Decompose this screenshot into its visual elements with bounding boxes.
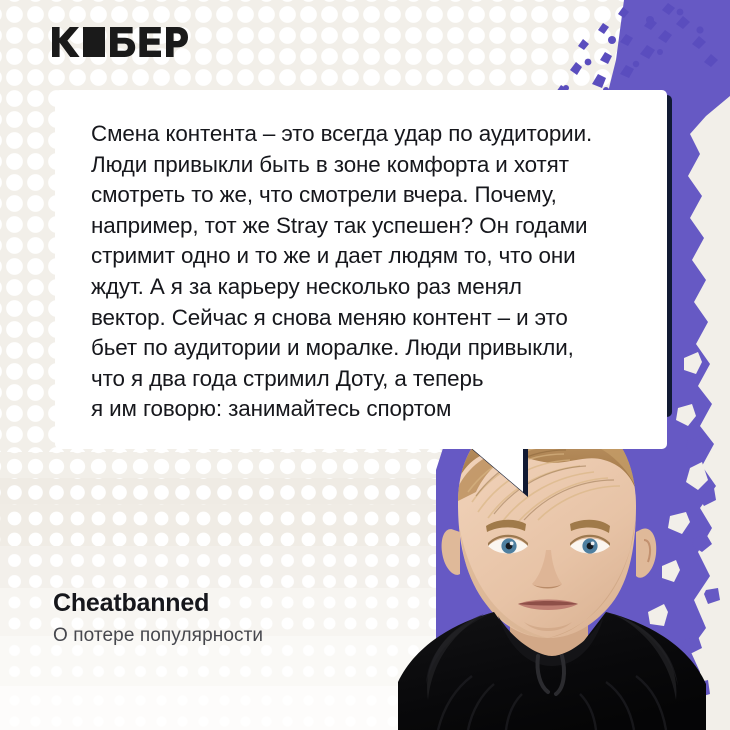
speaker-name: Cheatbanned <box>53 588 263 619</box>
quote-text: Смена контента – это всегда удар по ауди… <box>91 119 631 425</box>
quote-bubble: Смена контента – это всегда удар по ауди… <box>55 90 667 449</box>
quote-bubble-body: Смена контента – это всегда удар по ауди… <box>55 90 667 449</box>
halftone-band-5 <box>0 546 730 588</box>
speaker-subtitle: О потере популярности <box>53 623 263 648</box>
quote-card: Мужчина в черном худи на фиолетовом фоне <box>0 0 730 730</box>
halftone-band-3 <box>0 478 730 504</box>
halftone-band-8 <box>0 686 730 730</box>
kiber-logo[interactable] <box>52 26 188 58</box>
halftone-band-2 <box>0 452 730 478</box>
speaker-caption: Cheatbanned О потере популярности <box>53 588 263 648</box>
halftone-band-4 <box>0 504 730 546</box>
